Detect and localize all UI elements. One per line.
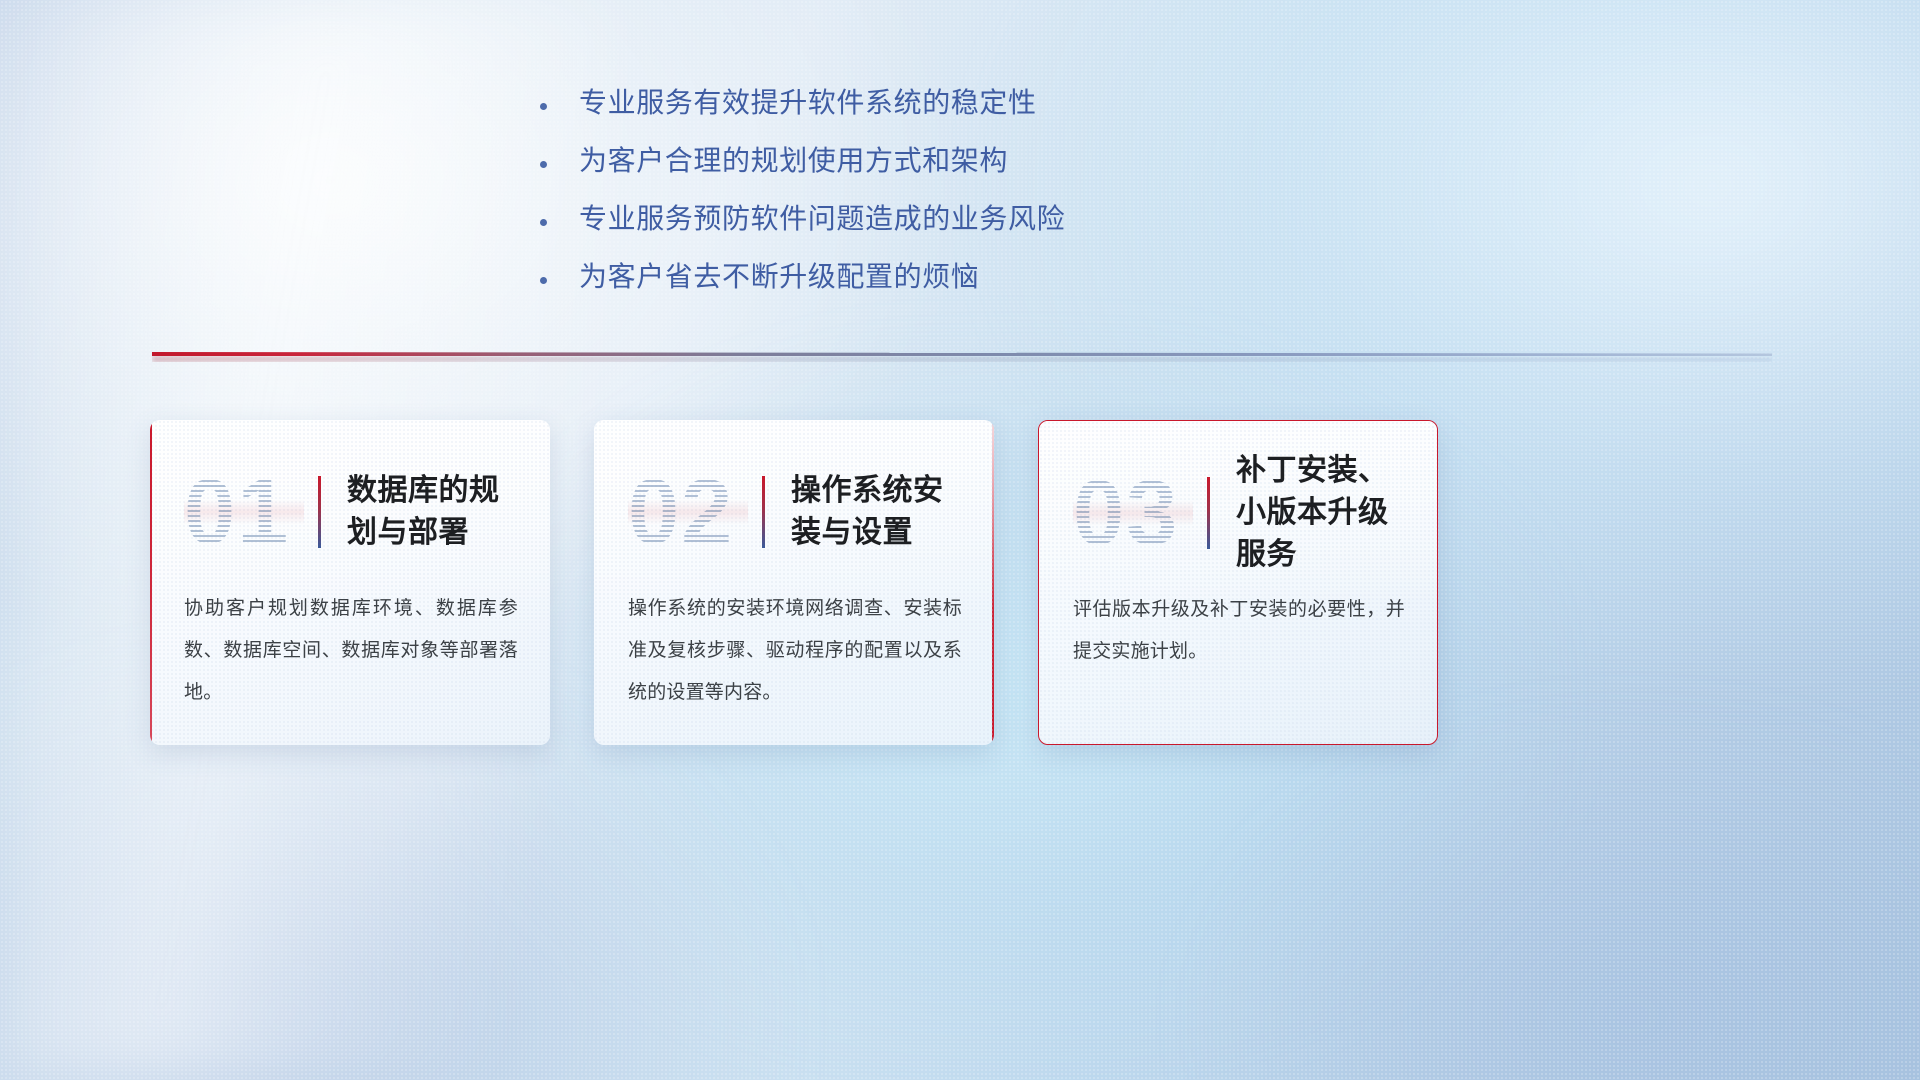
- card-header: 03 补丁安装、小版本升级服务: [1073, 455, 1411, 571]
- slide-canvas: 专业服务有效提升软件系统的稳定性 为客户合理的规划使用方式和架构 专业服务预防软…: [0, 0, 1920, 1080]
- card-accent-rule: [1207, 477, 1210, 549]
- bullet-text: 为客户省去不断升级配置的烦恼: [579, 260, 979, 294]
- card-number-watermark: 02: [628, 460, 748, 564]
- card-accent-rule: [318, 476, 321, 548]
- benefits-bullet-list: 专业服务有效提升软件系统的稳定性 为客户合理的规划使用方式和架构 专业服务预防软…: [540, 86, 1240, 318]
- bullet-dot-icon: [540, 161, 547, 168]
- card-accent-rule: [762, 476, 765, 548]
- service-card-02[interactable]: 02 操作系统安装与设置 操作系统的安装环境网络调查、安装标准及复核步骤、驱动程…: [594, 420, 994, 745]
- list-item: 专业服务有效提升软件系统的稳定性: [540, 86, 1240, 120]
- bullet-dot-icon: [540, 219, 547, 226]
- section-divider: [152, 352, 1772, 364]
- card-title: 操作系统安装与设置: [791, 470, 968, 554]
- divider-shadow: [152, 356, 1772, 362]
- card-header: 02 操作系统安装与设置: [628, 454, 968, 570]
- card-header: 01 数据库的规划与部署: [184, 454, 524, 570]
- bullet-text: 专业服务有效提升软件系统的稳定性: [579, 86, 1037, 120]
- card-number-watermark: 01: [184, 460, 304, 564]
- bullet-dot-icon: [540, 277, 547, 284]
- card-number-text: 03: [1073, 461, 1193, 565]
- card-description: 操作系统的安装环境网络调查、安装标准及复核步骤、驱动程序的配置以及系统的设置等内…: [628, 588, 962, 714]
- card-title: 补丁安装、小版本升级服务: [1236, 450, 1411, 576]
- list-item: 专业服务预防软件问题造成的业务风险: [540, 202, 1240, 236]
- divider-gradient-bar: [152, 352, 1772, 356]
- service-card-03[interactable]: 03 补丁安装、小版本升级服务 评估版本升级及补丁安装的必要性，并提交实施计划。: [1038, 420, 1438, 745]
- card-description: 协助客户规划数据库环境、数据库参数、数据库空间、数据库对象等部署落地。: [184, 588, 518, 714]
- bullet-text: 专业服务预防软件问题造成的业务风险: [579, 202, 1065, 236]
- list-item: 为客户合理的规划使用方式和架构: [540, 144, 1240, 178]
- service-card-01[interactable]: 01 数据库的规划与部署 协助客户规划数据库环境、数据库参数、数据库空间、数据库…: [150, 420, 550, 745]
- list-item: 为客户省去不断升级配置的烦恼: [540, 260, 1240, 294]
- card-description: 评估版本升级及补丁安装的必要性，并提交实施计划。: [1073, 589, 1405, 673]
- card-number-text: 02: [628, 460, 748, 564]
- service-card-group: 01 数据库的规划与部署 协助客户规划数据库环境、数据库参数、数据库空间、数据库…: [150, 420, 1770, 745]
- card-number-text: 01: [184, 460, 304, 564]
- bullet-dot-icon: [540, 103, 547, 110]
- bullet-text: 为客户合理的规划使用方式和架构: [579, 144, 1008, 178]
- card-title: 数据库的规划与部署: [347, 470, 524, 554]
- card-number-watermark: 03: [1073, 461, 1193, 565]
